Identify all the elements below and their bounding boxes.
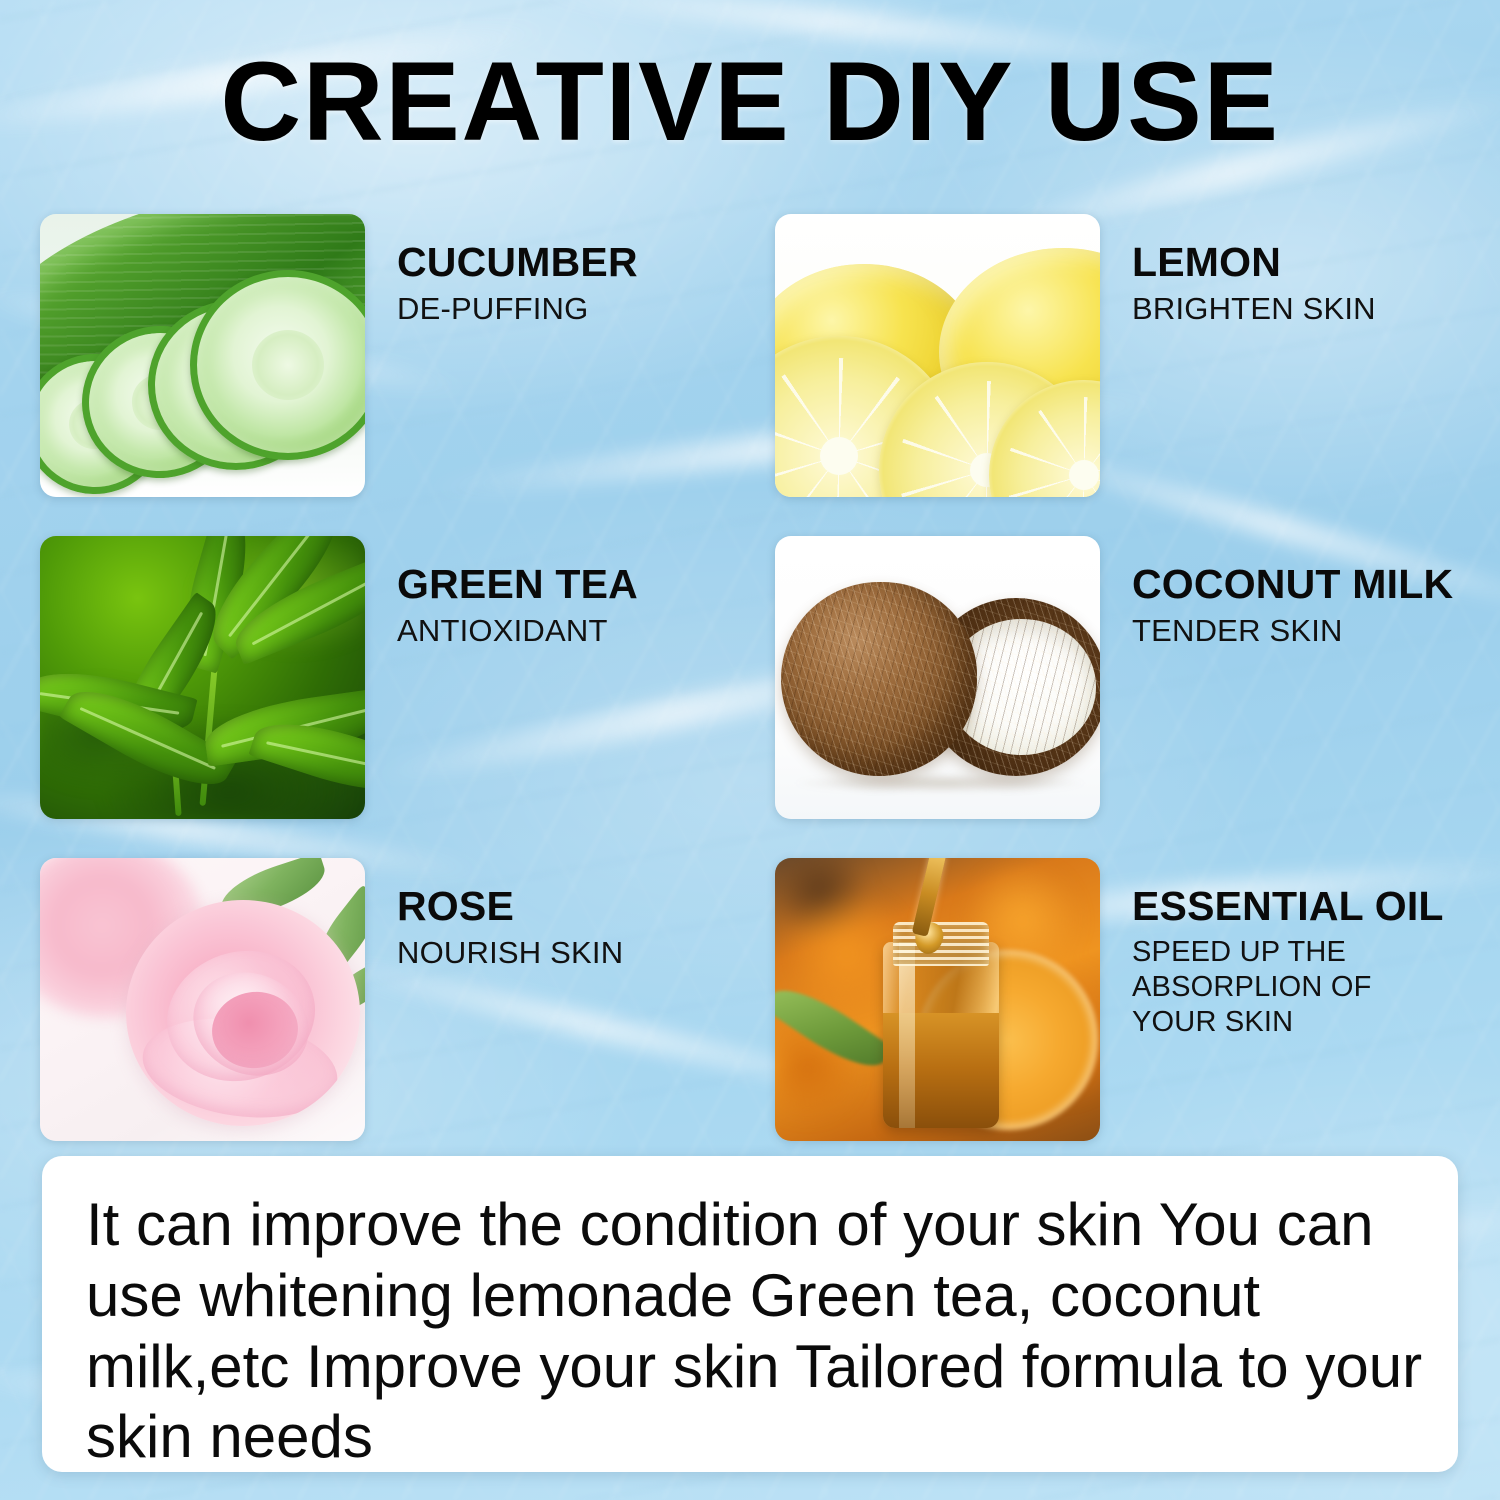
coconut-text-block: COCONUT MILK TENDER SKIN: [1100, 536, 1453, 649]
coconut-thumbnail: [775, 536, 1100, 819]
cucumber-benefit: DE-PUFFING: [397, 291, 638, 326]
green-tea-title: GREEN TEA: [397, 562, 638, 606]
rose-title: ROSE: [397, 884, 623, 928]
feature-item-green-tea: GREEN TEA ANTIOXIDANT: [40, 536, 775, 858]
feature-item-essential-oil: ESSENTIAL OIL SPEED UP THE ABSORPLION OF…: [775, 858, 1460, 1180]
lemon-photo: [775, 214, 1100, 497]
coconut-photo: [775, 536, 1100, 819]
lemon-benefit: BRIGHTEN SKIN: [1132, 291, 1376, 326]
feature-item-coconut-milk: COCONUT MILK TENDER SKIN: [775, 536, 1460, 858]
rose-photo: [40, 858, 365, 1141]
green-tea-text-block: GREEN TEA ANTIOXIDANT: [365, 536, 638, 649]
essential-oil-benefit: SPEED UP THE ABSORPLION OF YOUR SKIN: [1132, 935, 1460, 1039]
feature-item-cucumber: CUCUMBER DE-PUFFING: [40, 214, 775, 536]
essential-oil-title: ESSENTIAL OIL: [1132, 884, 1460, 928]
lemon-title: LEMON: [1132, 240, 1376, 284]
green-tea-benefit: ANTIOXIDANT: [397, 613, 638, 648]
rose-benefit: NOURISH SKIN: [397, 935, 623, 970]
cucumber-thumbnail: [40, 214, 365, 497]
description-text: It can improve the condition of your ski…: [86, 1190, 1428, 1473]
feature-item-rose: ROSE NOURISH SKIN: [40, 858, 775, 1180]
lemon-text-block: LEMON BRIGHTEN SKIN: [1100, 214, 1376, 327]
rose-thumbnail: [40, 858, 365, 1141]
coconut-benefit: TENDER SKIN: [1132, 613, 1453, 648]
essential-oil-thumbnail: [775, 858, 1100, 1141]
cucumber-text-block: CUCUMBER DE-PUFFING: [365, 214, 638, 327]
rose-text-block: ROSE NOURISH SKIN: [365, 858, 623, 971]
green-tea-photo: [40, 536, 365, 819]
cucumber-title: CUCUMBER: [397, 240, 638, 284]
coconut-title: COCONUT MILK: [1132, 562, 1453, 606]
page-title: CREATIVE DIY USE: [0, 44, 1500, 160]
feature-grid: CUCUMBER DE-PUFFING LEMON BRIGHTEN SKIN: [40, 214, 1460, 1180]
lemon-thumbnail: [775, 214, 1100, 497]
cucumber-photo: [40, 214, 365, 497]
essential-oil-text-block: ESSENTIAL OIL SPEED UP THE ABSORPLION OF…: [1100, 858, 1460, 1040]
description-card: It can improve the condition of your ski…: [42, 1156, 1458, 1472]
green-tea-thumbnail: [40, 536, 365, 819]
feature-item-lemon: LEMON BRIGHTEN SKIN: [775, 214, 1460, 536]
essential-oil-photo: [775, 858, 1100, 1141]
